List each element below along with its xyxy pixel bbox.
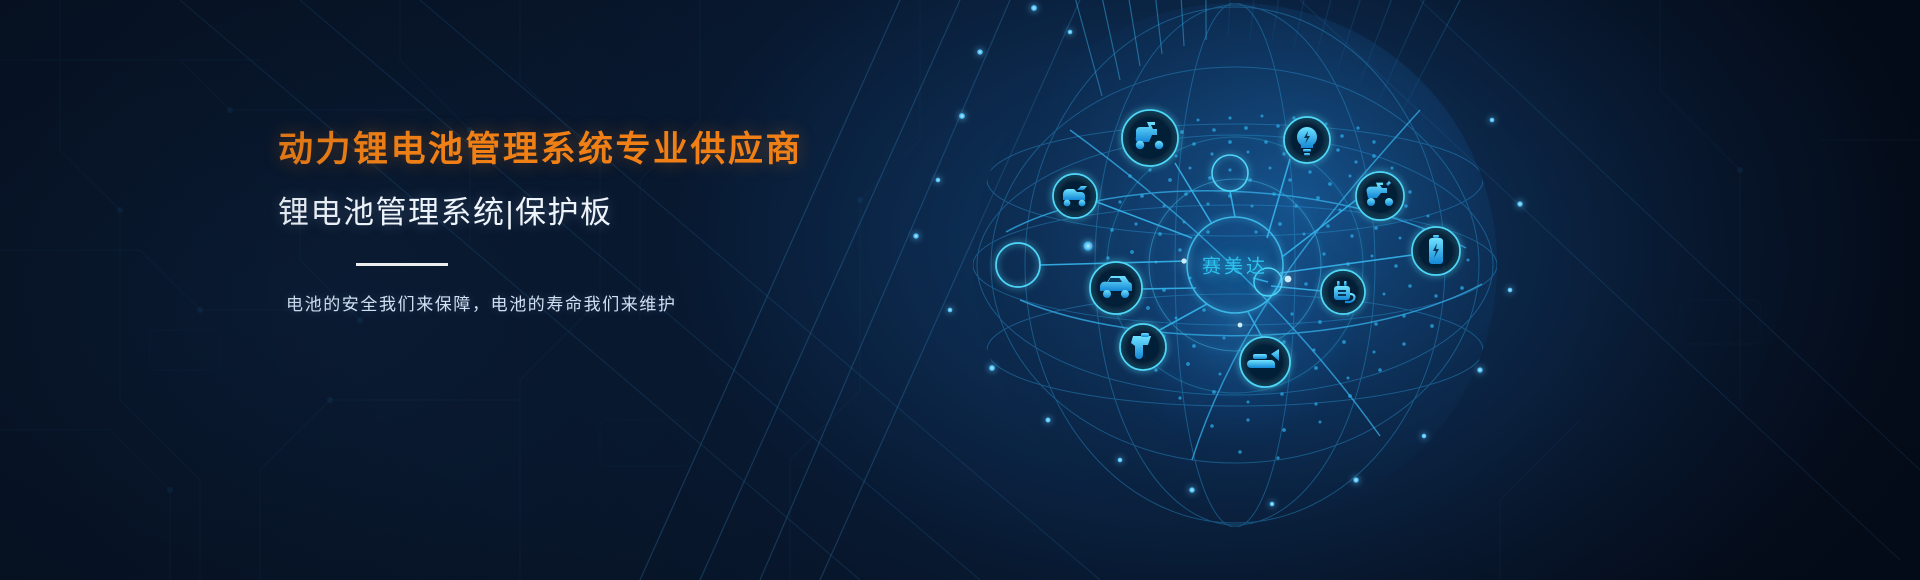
banner-subtitle: 锂电池管理系统|保护板 bbox=[278, 194, 898, 233]
node-motorcycle bbox=[1356, 172, 1404, 220]
page-title: 动力锂电池管理系统专业供应商 bbox=[278, 128, 898, 172]
node-drill bbox=[1120, 324, 1166, 370]
node-lightbulb bbox=[1284, 117, 1330, 163]
banner-copy: 动力锂电池管理系统专业供应商 锂电池管理系统|保护板 电池的安全我们来保障，电池… bbox=[278, 128, 898, 315]
network-globe-graphic: 赛美达 bbox=[820, 0, 1580, 580]
node-lamp bbox=[1240, 337, 1290, 387]
node-ebike bbox=[1053, 174, 1097, 218]
node-car bbox=[1090, 262, 1142, 314]
globe-svg bbox=[820, 0, 1580, 580]
divider bbox=[356, 263, 448, 266]
node-battery bbox=[1412, 227, 1460, 275]
banner-tagline: 电池的安全我们来保障，电池的寿命我们来维护 bbox=[286, 290, 898, 315]
node-plug bbox=[1321, 270, 1365, 314]
node-scooter bbox=[1122, 110, 1178, 166]
hero-banner: 动力锂电池管理系统专业供应商 锂电池管理系统|保护板 电池的安全我们来保障，电池… bbox=[0, 0, 1920, 580]
